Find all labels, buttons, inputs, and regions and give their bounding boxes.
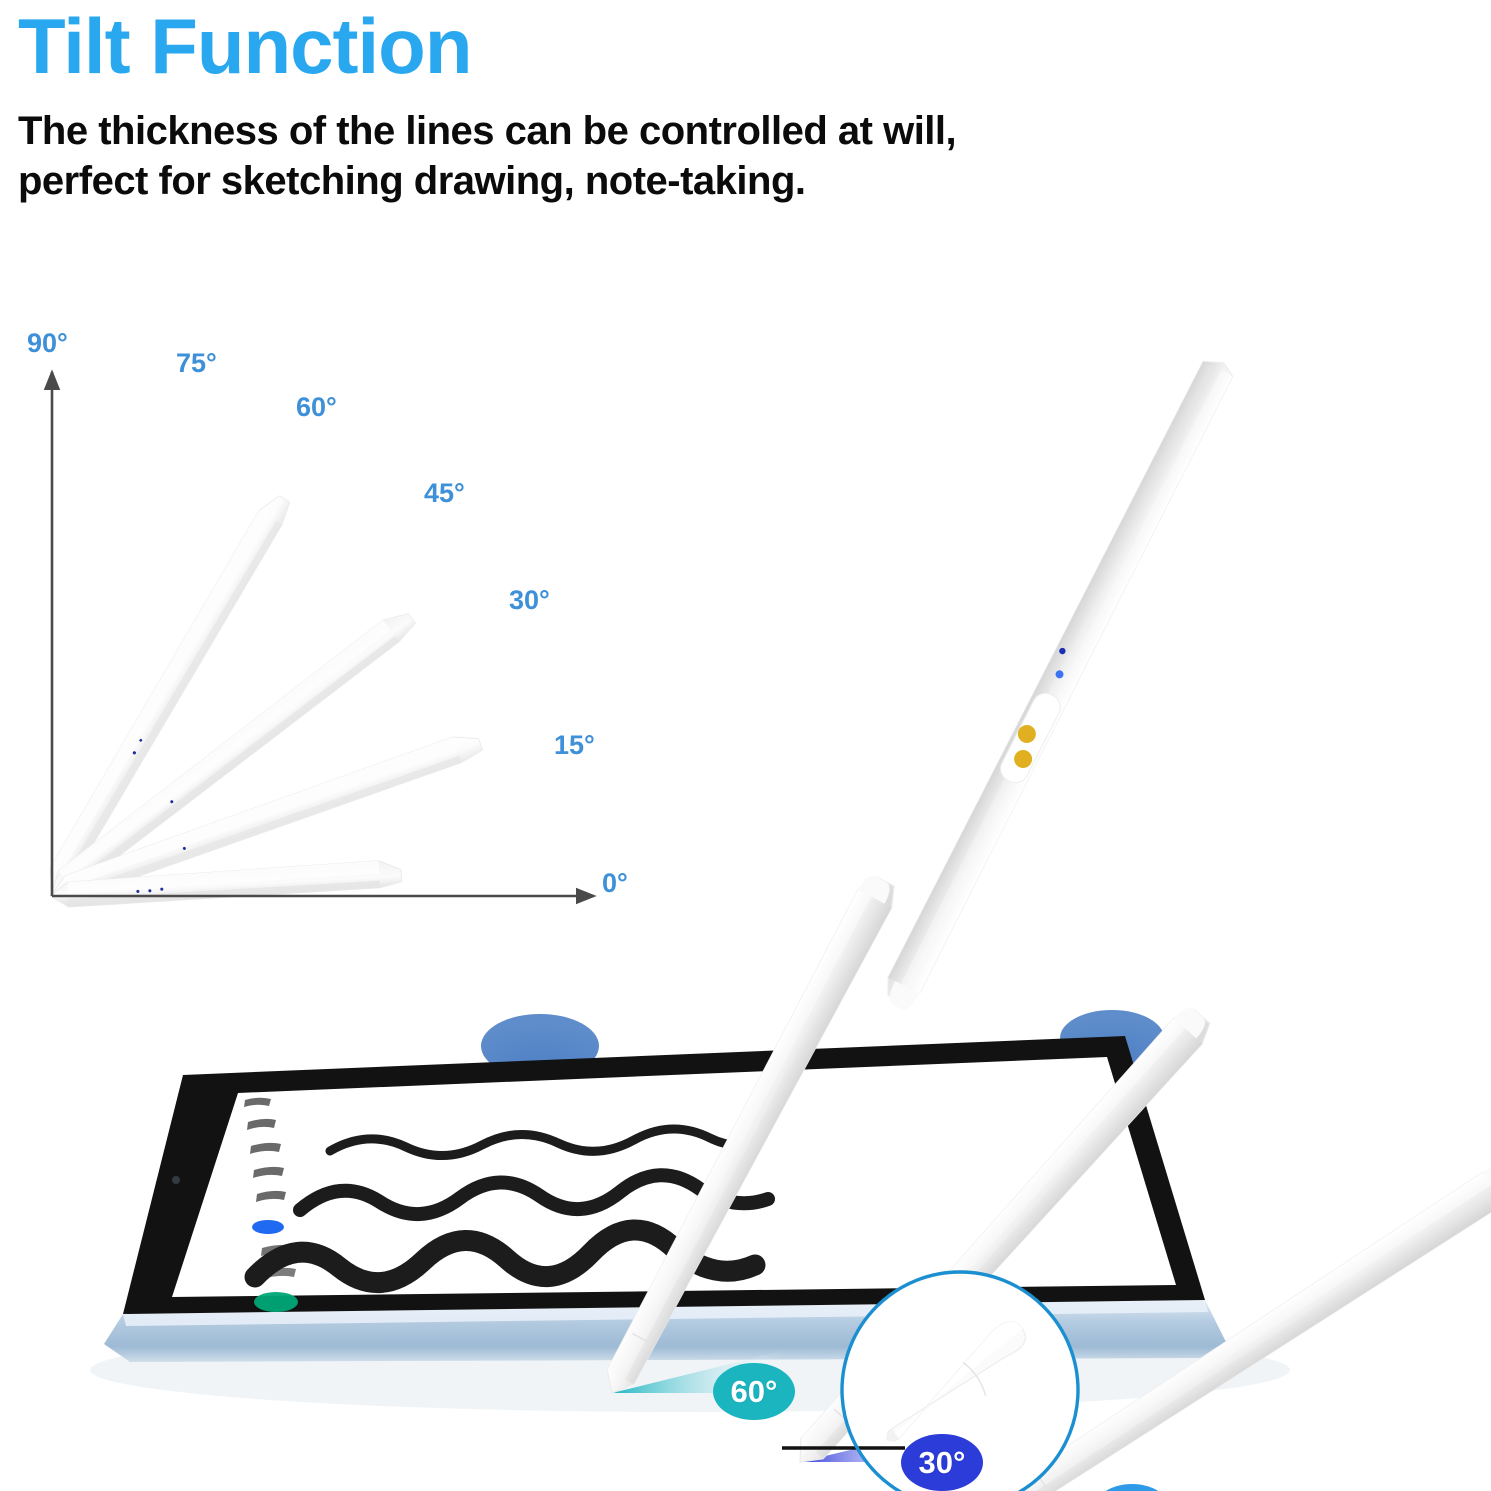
scene-graphic <box>0 300 1491 1491</box>
stylus-upright <box>878 354 1237 1013</box>
infographic-page: Tilt Function The thickness of the lines… <box>0 0 1491 1491</box>
subtitle-line-2: perfect for sketching drawing, note-taki… <box>18 156 1318 206</box>
angle-badge-30: 30° <box>901 1434 983 1491</box>
toolbar-color-swatch-green <box>254 1292 298 1312</box>
page-subtitle: The thickness of the lines can be contro… <box>18 106 1318 206</box>
page-title: Tilt Function <box>18 8 1318 84</box>
header: Tilt Function The thickness of the lines… <box>18 8 1318 206</box>
subtitle-line-1: The thickness of the lines can be contro… <box>18 106 1318 156</box>
tablet-and-stylus-scene: 60° 30° 15° <box>0 300 1491 1491</box>
toolbar-color-swatch-blue <box>252 1220 284 1234</box>
angle-badge-60: 60° <box>713 1363 795 1420</box>
front-camera-dot <box>172 1176 180 1184</box>
